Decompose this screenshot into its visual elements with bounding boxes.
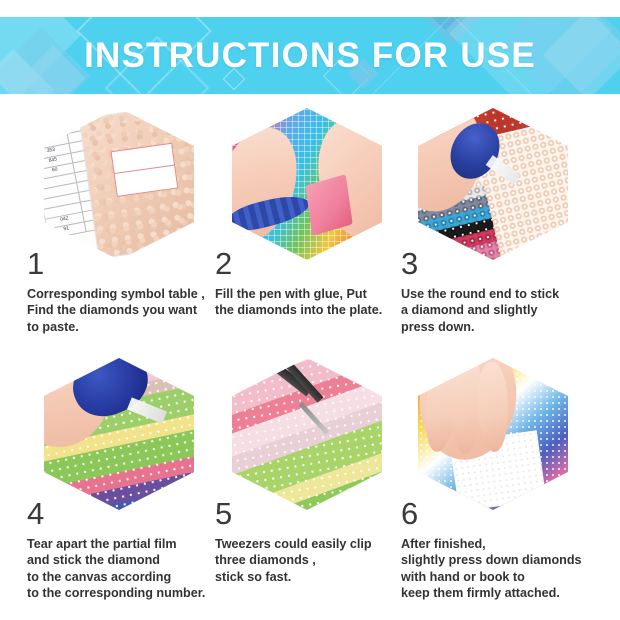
step-number: 1 [27, 248, 44, 279]
step-5-image [232, 358, 382, 510]
step-item-4: 4 Tear apart the partial film and stick … [22, 358, 212, 510]
step-item-5: 5 Tweezers could easily clip three diamo… [210, 358, 400, 510]
step-6-image [418, 358, 568, 510]
bag-label [111, 143, 179, 197]
pen-glue-photo [232, 108, 382, 260]
step-number: 5 [215, 498, 232, 529]
step-description: Corresponding symbol table , Find the di… [27, 286, 219, 335]
page-title: INSTRUCTIONS FOR USE [0, 17, 620, 94]
pressing-finished-photo [418, 358, 568, 510]
tearing-film-photo [44, 358, 194, 510]
step-item-6: 6 After finished, slightly press down di… [396, 358, 586, 510]
header-banner: INSTRUCTIONS FOR USE [0, 17, 620, 94]
bag-of-diamonds-photo: 785 522 49875 353431 845552 60192 452 18… [44, 108, 194, 260]
step-number: 2 [215, 248, 232, 279]
step-item-3: 3 Use the round end to stick a diamond a… [396, 108, 586, 260]
step-description: Fill the pen with glue, Put the diamonds… [215, 286, 407, 319]
round-end-sticking-photo [418, 108, 568, 260]
step-item-2: 2 Fill the pen with glue, Put the diamon… [210, 108, 400, 260]
step-1-image: 785 522 49875 353431 845552 60192 452 18… [44, 108, 194, 260]
step-description: Use the round end to stick a diamond and… [401, 286, 593, 335]
diamond-bag [79, 108, 194, 259]
tweezers-photo [232, 358, 382, 510]
step-description: Tear apart the partial film and stick th… [27, 536, 219, 602]
step-2-image [232, 108, 382, 260]
step-4-image [44, 358, 194, 510]
step-number: 4 [27, 498, 44, 529]
step-item-1: 785 522 49875 353431 845552 60192 452 18… [22, 108, 212, 260]
step-number: 6 [401, 498, 418, 529]
step-number: 3 [401, 248, 418, 279]
step-description: Tweezers could easily clip three diamond… [215, 536, 407, 585]
step-3-image [418, 108, 568, 260]
step-description: After finished, slightly press down diam… [401, 536, 593, 602]
steps-grid: 785 522 49875 353431 845552 60192 452 18… [0, 100, 620, 620]
